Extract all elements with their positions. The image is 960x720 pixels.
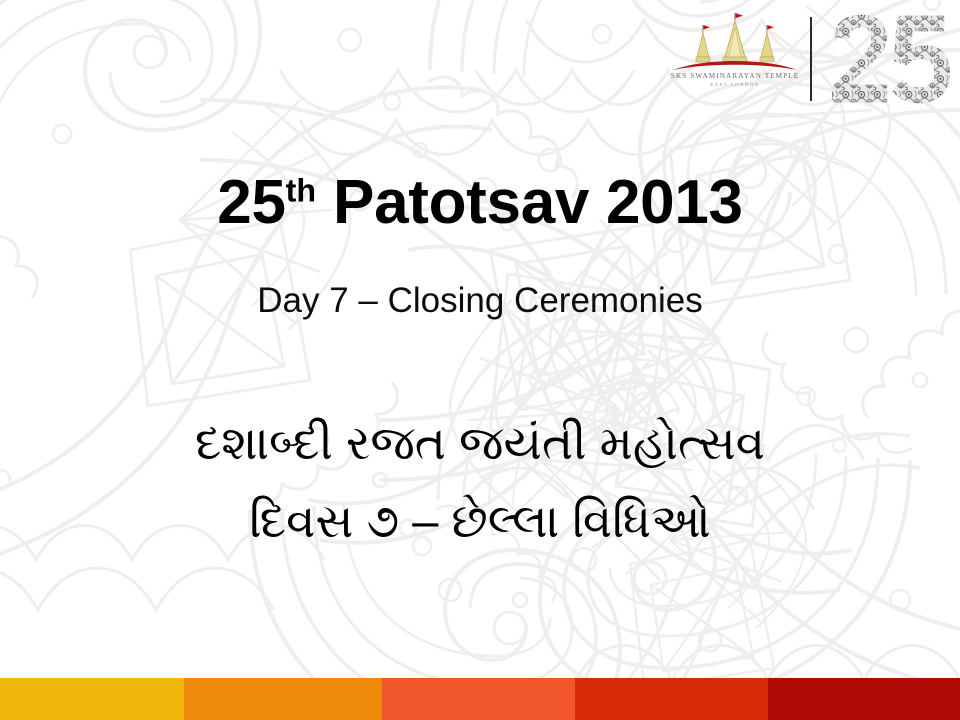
temple-logo-name: SKS SWAMINARAYAN TEMPLE bbox=[671, 72, 799, 80]
footer-segment-orange-red bbox=[382, 678, 575, 720]
footer-segment-dark-red bbox=[768, 678, 960, 720]
title-ordinal-suffix: th bbox=[286, 172, 316, 208]
title-number: 25 bbox=[217, 168, 285, 237]
footer-segment-gold bbox=[0, 678, 184, 720]
vertical-divider-icon bbox=[810, 17, 812, 101]
gujarati-subtitle-line-2: દિવસ ૭ – છેલ્લા વિધિઓ bbox=[0, 492, 960, 551]
ornamental-25-numeral-icon bbox=[826, 11, 950, 107]
presentation-slide: SKS SWAMINARAYAN TEMPLE EAST LONDON bbox=[0, 0, 960, 720]
page-title: 25th Patotsav 2013 bbox=[0, 172, 960, 234]
title-rest: Patotsav 2013 bbox=[316, 168, 743, 237]
temple-shikhar-icon bbox=[671, 13, 799, 71]
footer-segment-red bbox=[575, 678, 768, 720]
page-subtitle: Day 7 – Closing Ceremonies bbox=[0, 283, 960, 318]
footer-segment-orange bbox=[184, 678, 382, 720]
temple-logo: SKS SWAMINARAYAN TEMPLE EAST LONDON bbox=[670, 13, 800, 105]
brand-header: SKS SWAMINARAYAN TEMPLE EAST LONDON bbox=[670, 8, 950, 110]
footer-color-bar bbox=[0, 678, 960, 720]
temple-logo-subtitle: EAST LONDON bbox=[710, 82, 760, 87]
gujarati-title-line-1: દશાબ્દી રજત જયંતી મહોત્સવ bbox=[0, 414, 960, 473]
